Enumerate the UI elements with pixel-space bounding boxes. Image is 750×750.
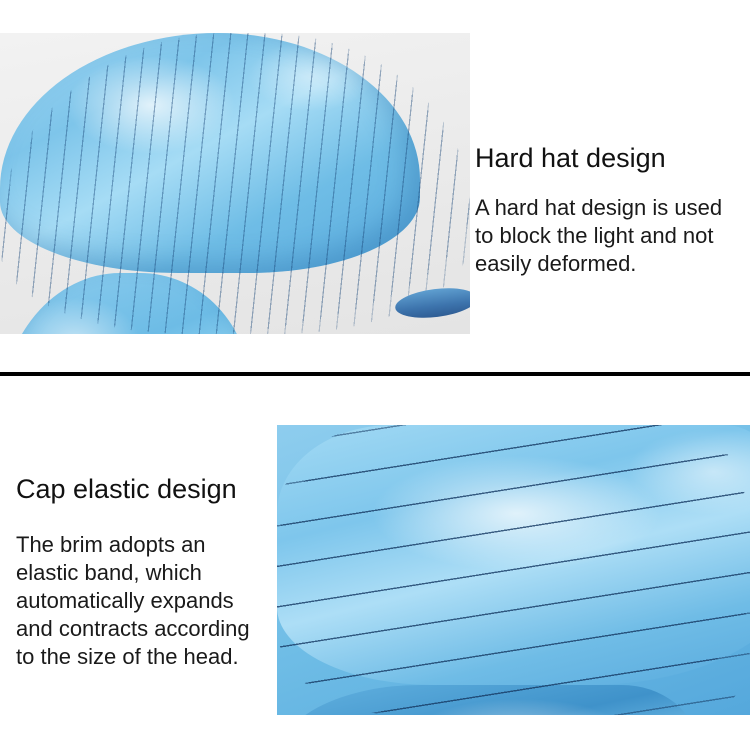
esd-cap-elastic-band-closeup-photo [277,425,750,715]
feature-text-hard-hat-design: Hard hat design A hard hat design is use… [475,142,743,278]
esd-cap-with-brim-photo [0,33,470,334]
feature-title-hard-hat-design: Hard hat design [475,142,743,174]
feature-title-cap-elastic-design: Cap elastic design [16,473,274,505]
elastic-band-lower-fold [277,685,697,715]
product-feature-panel: Hard hat design A hard hat design is use… [0,0,750,750]
elastic-band-lower-fold-stripe-texture [277,425,750,715]
feature-text-cap-elastic-design: Cap elastic design The brim adopts an el… [16,473,274,671]
section-divider [0,372,750,376]
feature-body-hard-hat-design: A hard hat design is used to block the l… [475,194,743,278]
cap-crown-right-panel [0,273,250,334]
feature-body-cap-elastic-design: The brim adopts an elastic band, which a… [16,531,274,671]
